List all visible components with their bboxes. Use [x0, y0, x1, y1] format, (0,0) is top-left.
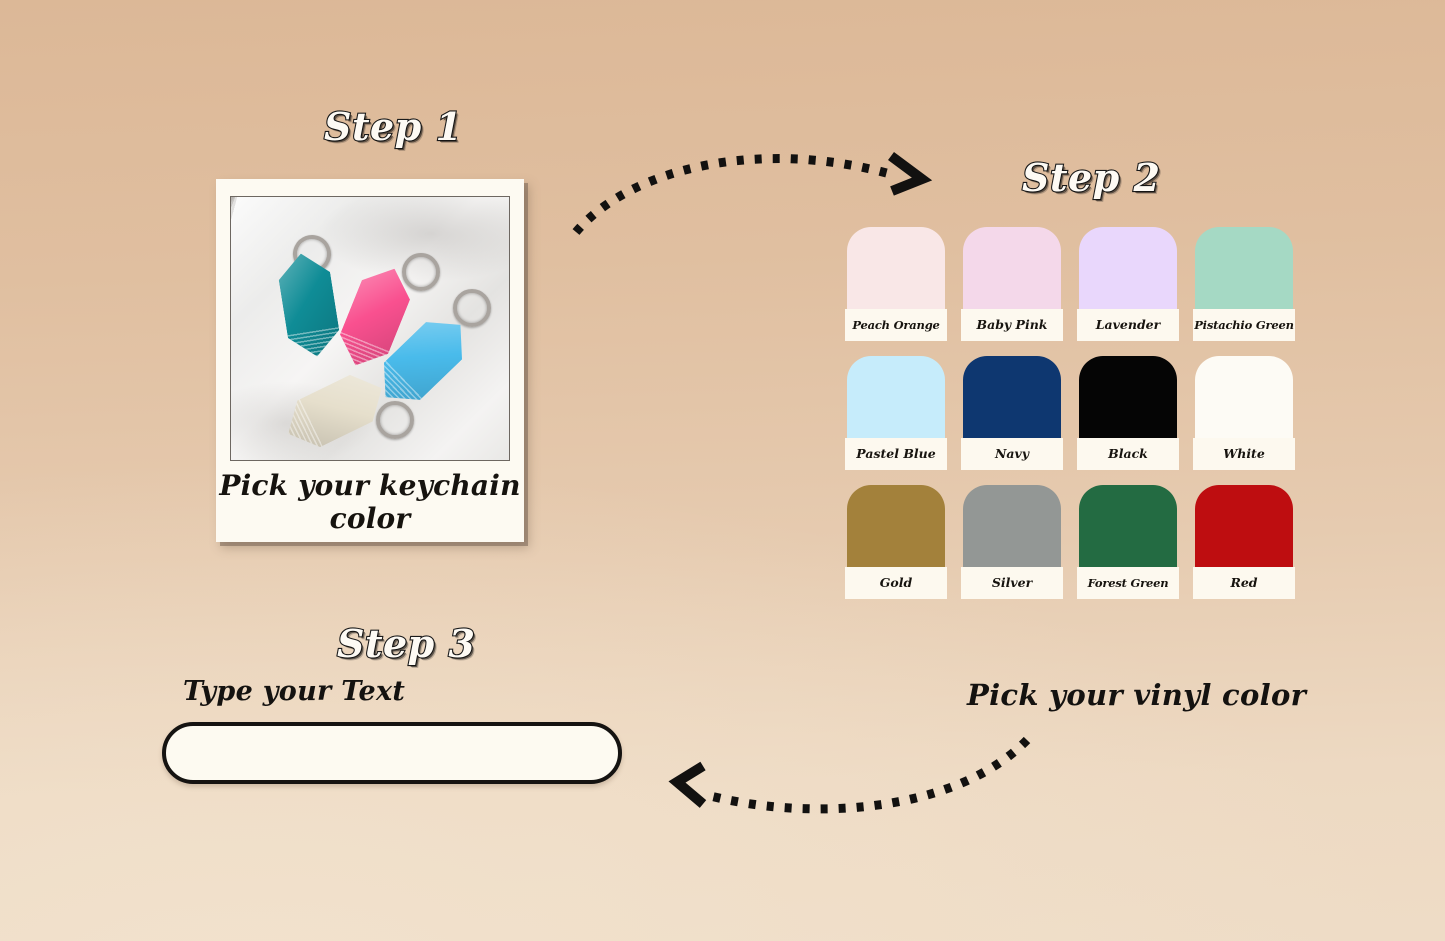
swatch-label: Lavender — [1077, 309, 1179, 341]
swatch-label: Red — [1193, 567, 1295, 599]
vinyl-swatch-white[interactable]: White — [1193, 356, 1295, 470]
type-your-text-label: Type your Text — [183, 676, 405, 707]
polaroid-caption: Pick your keychain color — [216, 469, 524, 535]
vinyl-swatch-pistachio-green[interactable]: Pistachio Green — [1193, 227, 1295, 341]
swatch-label: Navy — [961, 438, 1063, 470]
step-1-heading: Step 1 — [324, 104, 462, 149]
vinyl-swatch-forest-green[interactable]: Forest Green — [1077, 485, 1179, 599]
swatch-label: Peach Orange — [845, 309, 947, 341]
vinyl-color-swatch-grid: Peach OrangeBaby PinkLavenderPistachio G… — [845, 227, 1297, 599]
swatch-label: White — [1193, 438, 1295, 470]
vinyl-swatch-peach-orange[interactable]: Peach Orange — [845, 227, 947, 341]
vinyl-swatch-red[interactable]: Red — [1193, 485, 1295, 599]
custom-text-input[interactable] — [162, 722, 622, 784]
swatch-label: Baby Pink — [961, 309, 1063, 341]
swatch-label: Gold — [845, 567, 947, 599]
step-2-heading: Step 2 — [1022, 155, 1160, 200]
swatch-label: Black — [1077, 438, 1179, 470]
keyring-blue-icon — [453, 289, 491, 327]
swatch-label: Silver — [961, 567, 1063, 599]
vinyl-swatch-gold[interactable]: Gold — [845, 485, 947, 599]
vinyl-color-caption: Pick your vinyl color — [967, 678, 1306, 712]
step-3-heading: Step 3 — [337, 621, 475, 666]
vinyl-swatch-silver[interactable]: Silver — [961, 485, 1063, 599]
vinyl-swatch-navy[interactable]: Navy — [961, 356, 1063, 470]
vinyl-swatch-lavender[interactable]: Lavender — [1077, 227, 1179, 341]
keychain-polaroid-card[interactable]: Pick your keychain color — [216, 179, 524, 542]
keyring-cream-icon — [376, 401, 414, 439]
arrow-step2-to-step3-icon — [655, 718, 1055, 848]
keychain-photo — [230, 196, 510, 461]
vinyl-swatch-black[interactable]: Black — [1077, 356, 1179, 470]
custom-text-field-wrapper — [162, 722, 622, 784]
keyring-pink-icon — [402, 253, 440, 291]
swatch-label: Pastel Blue — [845, 438, 947, 470]
swatch-label: Pistachio Green — [1193, 309, 1295, 341]
swatch-label: Forest Green — [1077, 567, 1179, 599]
vinyl-swatch-baby-pink[interactable]: Baby Pink — [961, 227, 1063, 341]
keychain-customizer-canvas: Step 1 Pick your keychain color Step 2 P… — [0, 0, 1445, 941]
vinyl-swatch-pastel-blue[interactable]: Pastel Blue — [845, 356, 947, 470]
